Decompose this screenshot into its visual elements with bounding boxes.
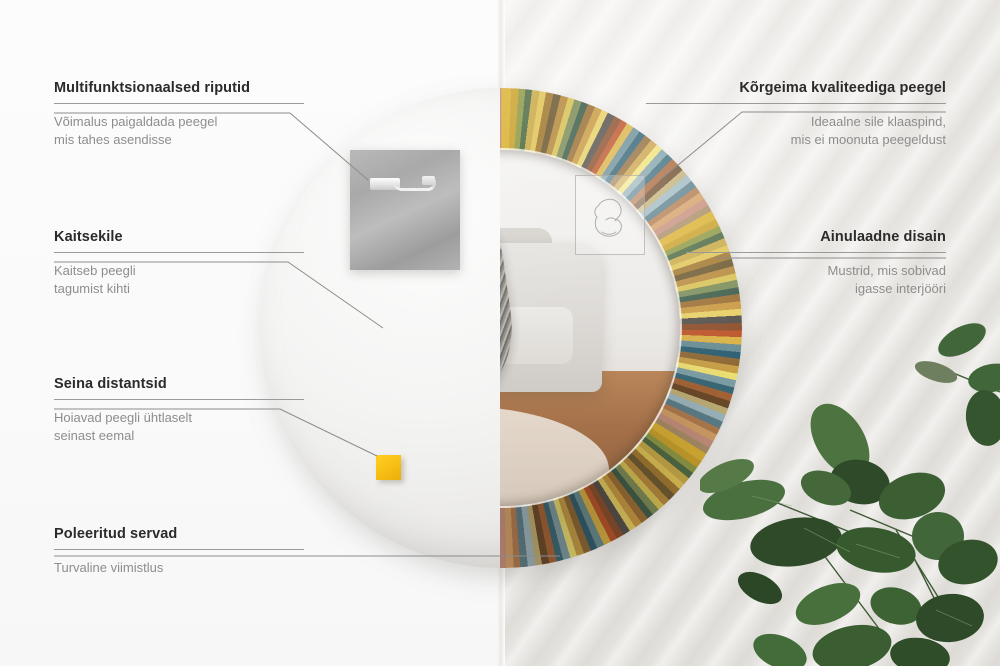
callout-title: Multifunktsionaalsed riputid: [54, 80, 304, 96]
callout-desc-line: Kaitseb peegli: [54, 262, 304, 280]
infographic-canvas: Multifunktsionaalsed riputid Võimalus pa…: [0, 0, 1000, 666]
foreground-foliage: [700, 300, 1000, 666]
callout-desc-line: Mustrid, mis sobivad: [686, 262, 946, 280]
callout-multifunktsionaalsed-riputid: Multifunktsionaalsed riputid Võimalus pa…: [54, 80, 304, 149]
callout-rule: [54, 103, 304, 104]
callout-title: Ainulaadne disain: [686, 229, 946, 245]
callout-desc-line: Ideaalne sile klaaspind,: [646, 113, 946, 131]
round-mirror: [262, 88, 742, 568]
callout-rule: [646, 103, 946, 104]
callout-desc-line: Võimalus paigaldada peegel: [54, 113, 304, 131]
callout-title: Kõrgeima kvaliteediga peegel: [646, 80, 946, 96]
callout-desc-line: seinast eemal: [54, 427, 304, 445]
hanger-tip: [422, 176, 435, 185]
callout-korgeima-kvaliteediga-peegel: Kõrgeima kvaliteediga peegel Ideaalne si…: [646, 80, 946, 149]
callout-rule: [686, 252, 946, 253]
callout-rule: [54, 252, 304, 253]
callout-title: Kaitsekile: [54, 229, 304, 245]
callout-title: Poleeritud servad: [54, 526, 304, 542]
callout-desc-line: igasse interjööri: [686, 280, 946, 298]
callout-rule: [54, 399, 304, 400]
callout-desc-line: Turvaline viimistlus: [54, 559, 304, 577]
line-art-picture-frame: [575, 175, 645, 255]
callout-ainulaadne-disain: Ainulaadne disain Mustrid, mis sobivad i…: [686, 229, 946, 298]
callout-desc-line: mis ei moonuta peegeldust: [646, 131, 946, 149]
callout-poleeritud-servad: Poleeritud servad Turvaline viimistlus: [54, 526, 304, 577]
face-line-art-icon: [576, 176, 646, 256]
hanger-bracket-icon: [370, 176, 436, 192]
callout-seina-distantsid: Seina distantsid Hoiavad peegli ühtlasel…: [54, 376, 304, 445]
wall-spacer-block: [376, 455, 401, 480]
hanger-plate-panel: [350, 150, 460, 270]
callout-desc-line: mis tahes asendisse: [54, 131, 304, 149]
leaves-illustration: [700, 300, 1000, 666]
callout-kaitsekile: Kaitsekile Kaitseb peegli tagumist kihti: [54, 229, 304, 298]
callout-desc-line: tagumist kihti: [54, 280, 304, 298]
callout-title: Seina distantsid: [54, 376, 304, 392]
callout-desc-line: Hoiavad peegli ühtlaselt: [54, 409, 304, 427]
callout-rule: [54, 549, 304, 550]
